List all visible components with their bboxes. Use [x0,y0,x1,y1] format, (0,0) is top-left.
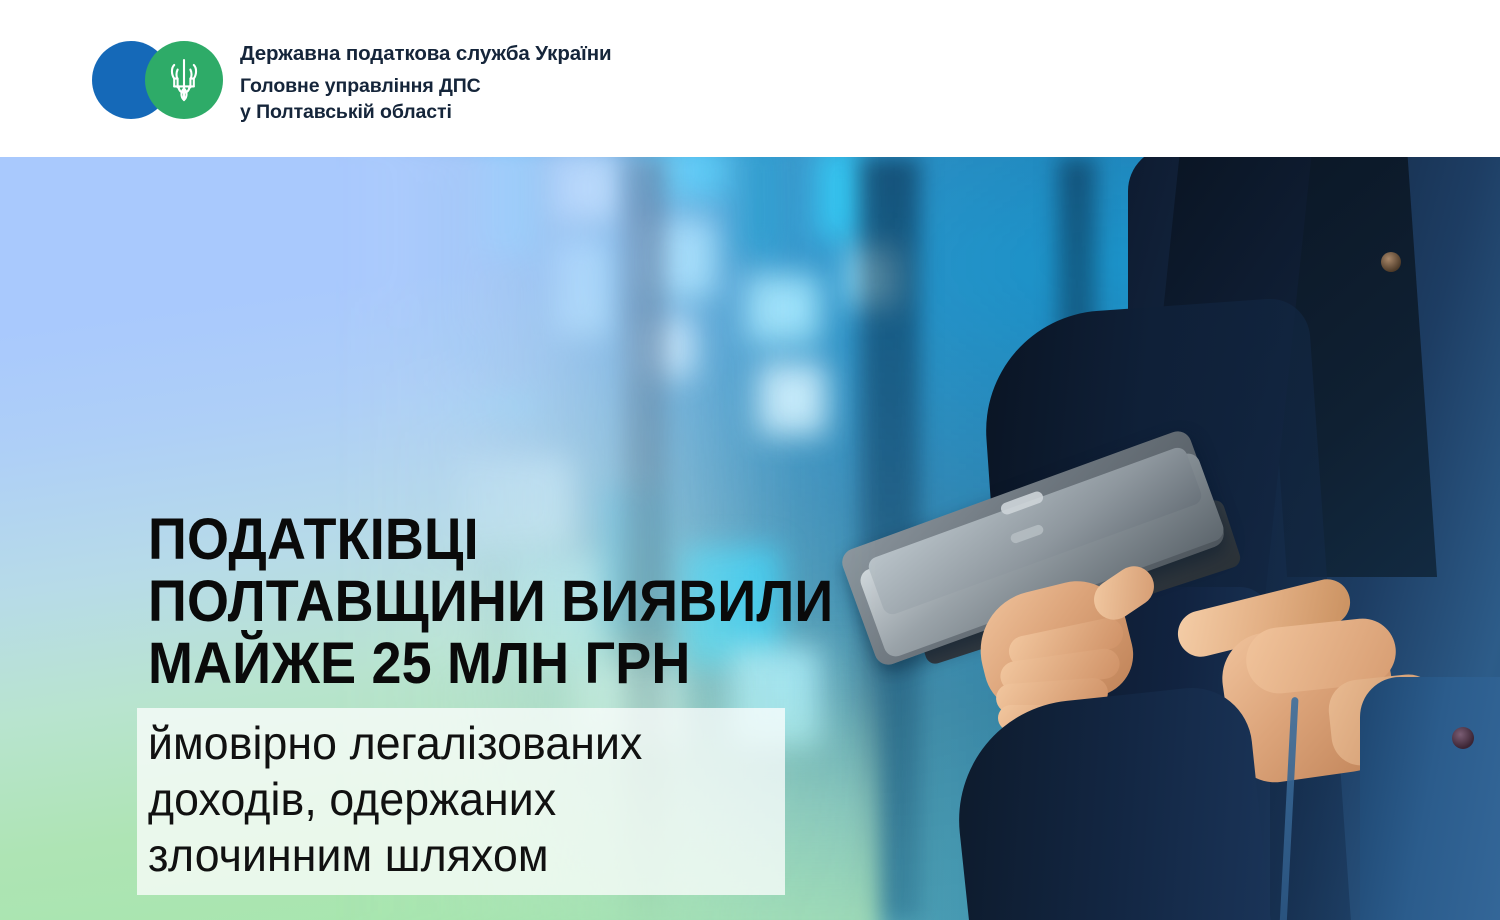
logo-title-line: Державна податкова служба України [240,41,612,67]
news-banner: Державна податкова служба України Головн… [0,0,1500,920]
logo-marks [92,37,223,123]
photo-jacket-button [1381,252,1401,272]
header-bar: Державна податкова служба України Головн… [0,0,1500,157]
ukraine-trident-icon [145,41,223,119]
photo-suit-cuff [1360,677,1500,920]
page-subtitle: ймовірно легалізованих доходів, одержани… [148,715,788,883]
banner-stage: ПОДАТКІВЦІ ПОЛТАВЩИНИ ВИЯВИЛИ МАЙЖЕ 25 М… [0,157,1500,920]
logo-subtitle-line-2: у Полтавській області [240,100,612,126]
page-title: ПОДАТКІВЦІ ПОЛТАВЩИНИ ВИЯВИЛИ МАЙЖЕ 25 М… [148,509,892,695]
photo-cuff-button [1452,727,1474,749]
logo-subtitle-line-1: Головне управління ДПС [240,74,612,100]
organization-logo: Державна податкова служба України Головн… [92,37,612,125]
logo-text-block: Державна податкова служба України Головн… [223,37,612,125]
